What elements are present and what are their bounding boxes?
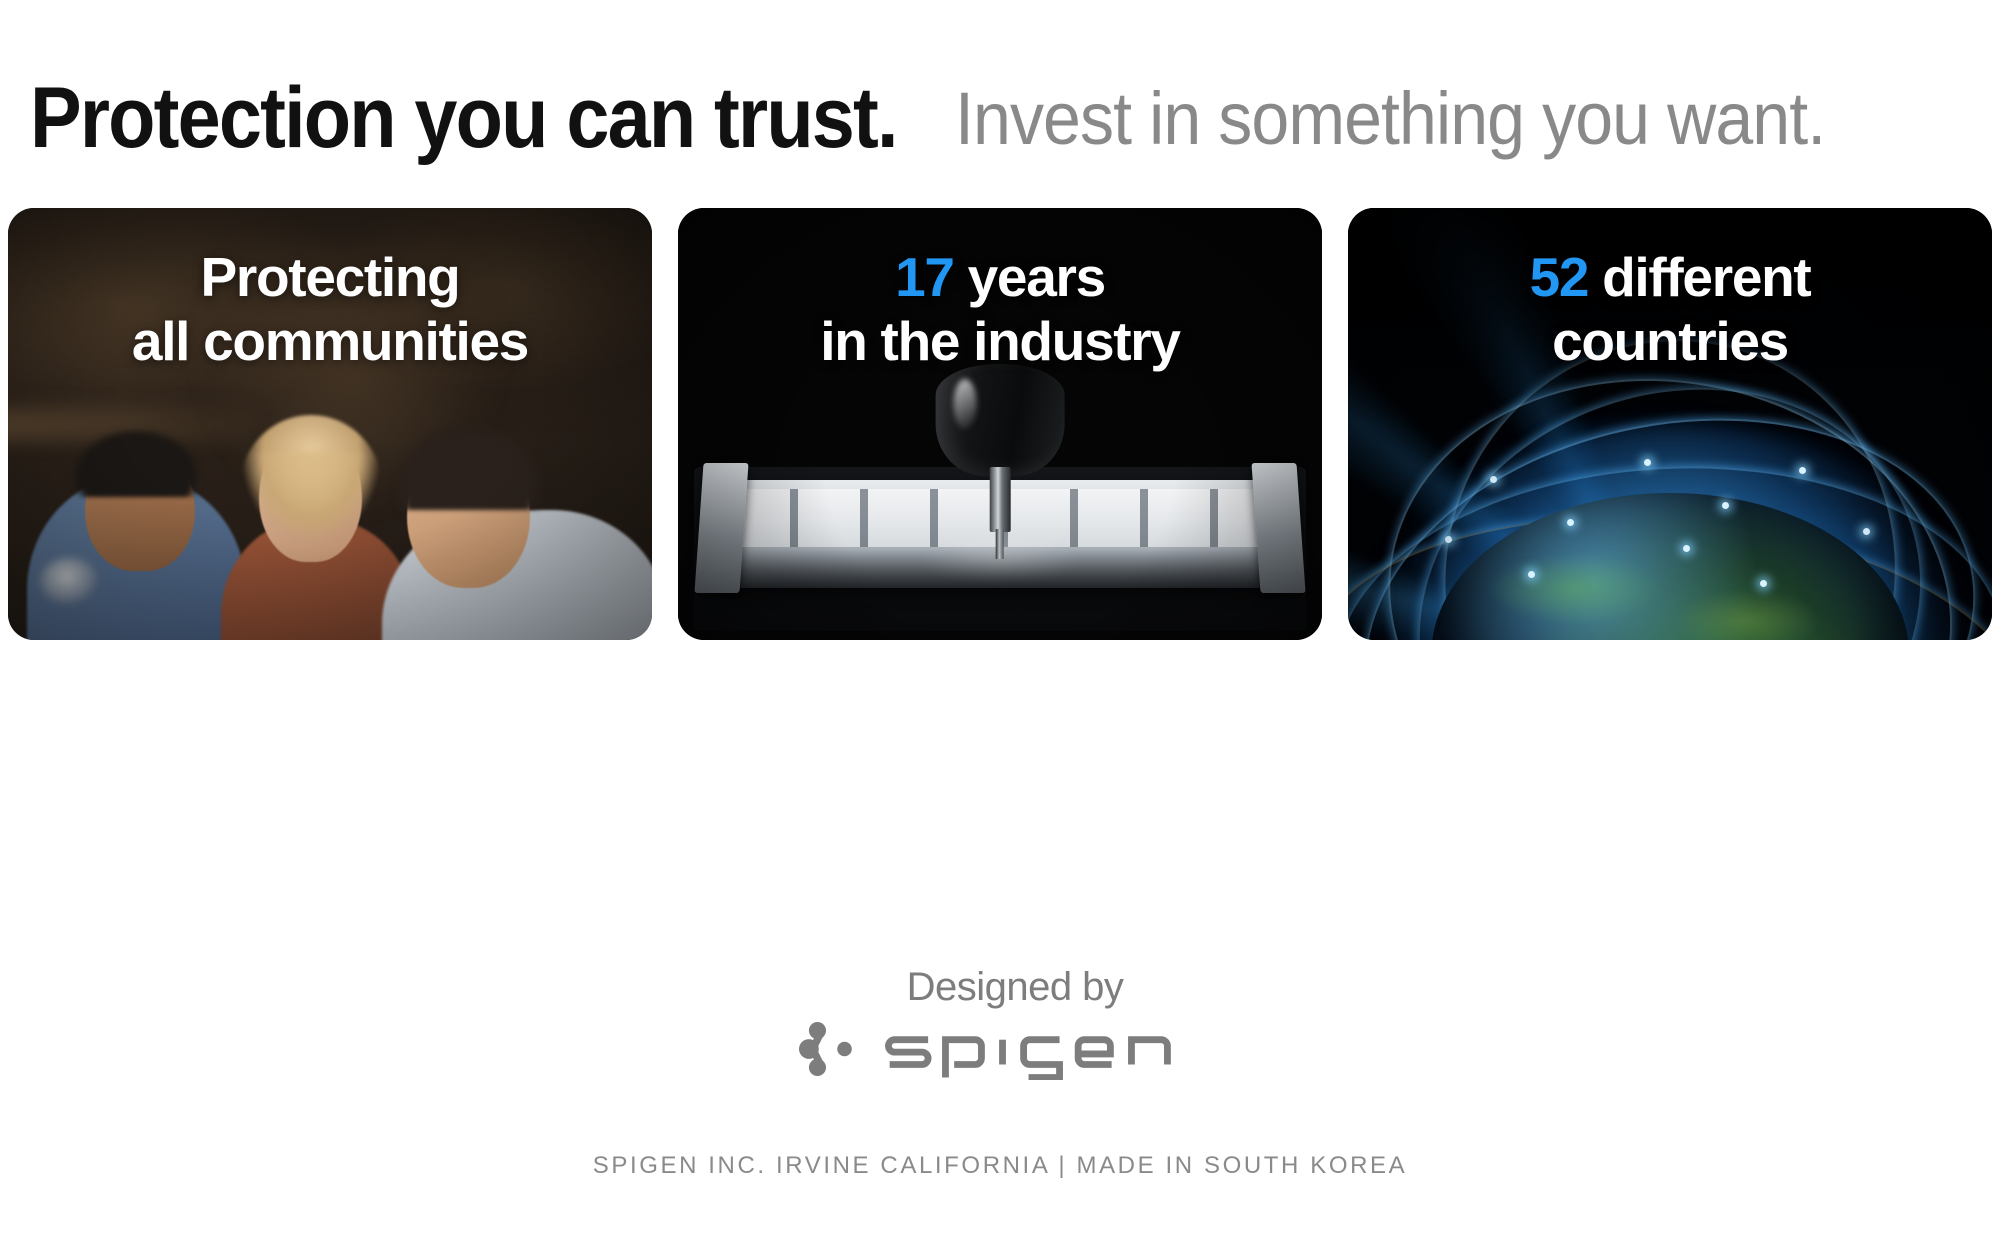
- caption-line-1-rest: years: [954, 246, 1105, 308]
- feature-card-row: Protecting all communities 17 years in t…: [8, 208, 1992, 640]
- footer-legal-text: SPIGEN INC. IRVINE CALIFORNIA | MADE IN …: [0, 1152, 2000, 1180]
- caption-line-2: in the industry: [678, 310, 1322, 374]
- headline-secondary: Invest in something you want.: [955, 82, 1825, 156]
- feature-card-communities[interactable]: Protecting all communities: [8, 208, 652, 640]
- spigen-wordmark: [881, 1018, 1203, 1080]
- caption-line-1: 52 different: [1348, 246, 1992, 310]
- caption-line-1-rest: different: [1588, 246, 1810, 308]
- card-caption-years: 17 years in the industry: [678, 246, 1322, 374]
- caption-line-1: Protecting: [8, 246, 652, 310]
- feature-card-years[interactable]: 17 years in the industry: [678, 208, 1322, 640]
- designed-by-label: Designed by: [907, 965, 1124, 1010]
- feature-card-countries[interactable]: 52 different countries: [1348, 208, 1992, 640]
- caption-line-2: countries: [1348, 310, 1992, 374]
- card-caption-countries: 52 different countries: [1348, 246, 1992, 374]
- page-title: Protection you can trust.Invest in somet…: [30, 75, 1901, 161]
- marketing-banner: Protection you can trust.Invest in somet…: [0, 0, 2000, 1237]
- spigen-logo: [797, 1016, 1203, 1082]
- brand-block: Designed by: [0, 965, 2000, 1082]
- stat-number-years: 17: [895, 246, 954, 308]
- headline-primary: Protection you can trust.: [30, 75, 897, 161]
- card-caption-communities: Protecting all communities: [8, 246, 652, 374]
- caption-line-1: 17 years: [678, 246, 1322, 310]
- caption-line-2: all communities: [8, 310, 652, 374]
- spigen-node-icon: [797, 1016, 863, 1082]
- stat-number-countries: 52: [1530, 246, 1589, 308]
